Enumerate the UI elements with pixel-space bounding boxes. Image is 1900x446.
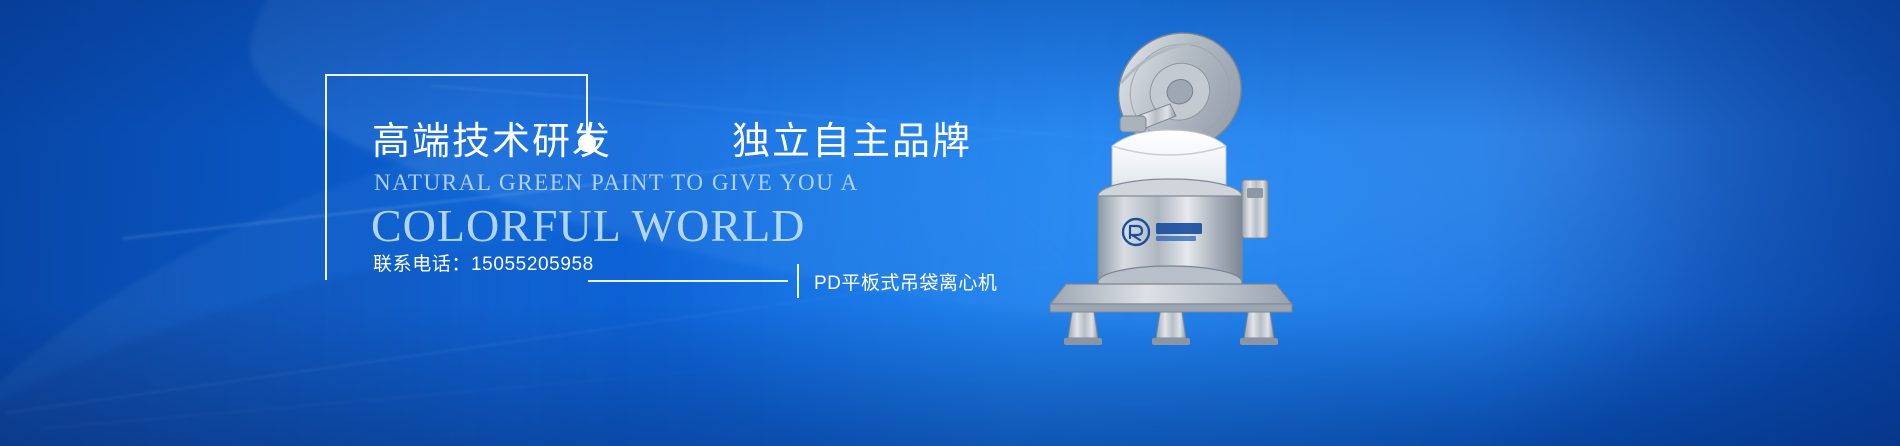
- background-vignette: [0, 0, 1900, 446]
- headline-left-text: 高端技术研发: [372, 123, 612, 161]
- headline-right-text: 独立自主品牌: [732, 123, 972, 161]
- tagline-text: COLORFUL WORLD: [371, 199, 805, 252]
- product-caption-text: PD平板式吊袋离心机: [814, 268, 997, 295]
- caption-rule: [588, 280, 788, 282]
- hero-banner: 高端技术研发 独立自主品牌 NATURAL GREEN PAINT TO GIV…: [0, 0, 1900, 446]
- headline: 高端技术研发 独立自主品牌: [372, 114, 972, 170]
- contact-phone-text: 联系电话：15055205958: [373, 249, 594, 276]
- caption-tick: [797, 264, 799, 298]
- subtitle-text: NATURAL GREEN PAINT TO GIVE YOU A: [374, 170, 859, 196]
- centrifuge-machine-image: [1020, 18, 1350, 348]
